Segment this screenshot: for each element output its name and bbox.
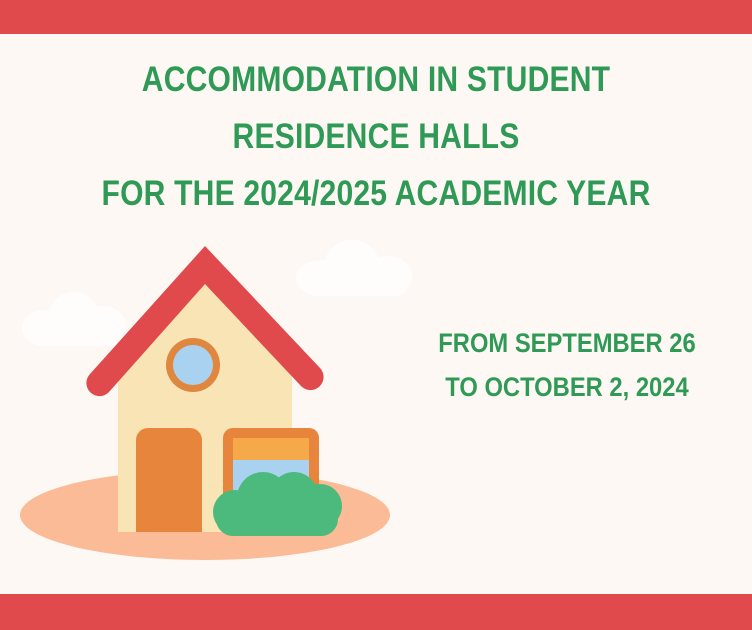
date-line-2: TO OCTOBER 2, 2024 <box>422 374 712 401</box>
page-title: ACCOMMODATION IN STUDENT RESIDENCE HALLS… <box>0 62 752 211</box>
poster-canvas: ACCOMMODATION IN STUDENT RESIDENCE HALLS… <box>0 0 752 630</box>
date-line-1: FROM SEPTEMBER 26 <box>422 330 712 357</box>
house-illustration <box>20 240 420 570</box>
house-door <box>136 428 202 532</box>
date-range: FROM SEPTEMBER 26 TO OCTOBER 2, 2024 <box>402 330 732 401</box>
window-shade <box>233 438 309 460</box>
top-red-bar <box>0 0 752 34</box>
headline-line-3: FOR THE 2024/2025 ACADEMIC YEAR <box>53 176 700 211</box>
house-illustration-svg <box>20 240 420 570</box>
headline-line-2: RESIDENCE HALLS <box>53 119 700 154</box>
round-window-glass <box>173 345 213 385</box>
bottom-red-bar <box>0 594 752 630</box>
headline-line-1: ACCOMMODATION IN STUDENT <box>53 62 700 97</box>
